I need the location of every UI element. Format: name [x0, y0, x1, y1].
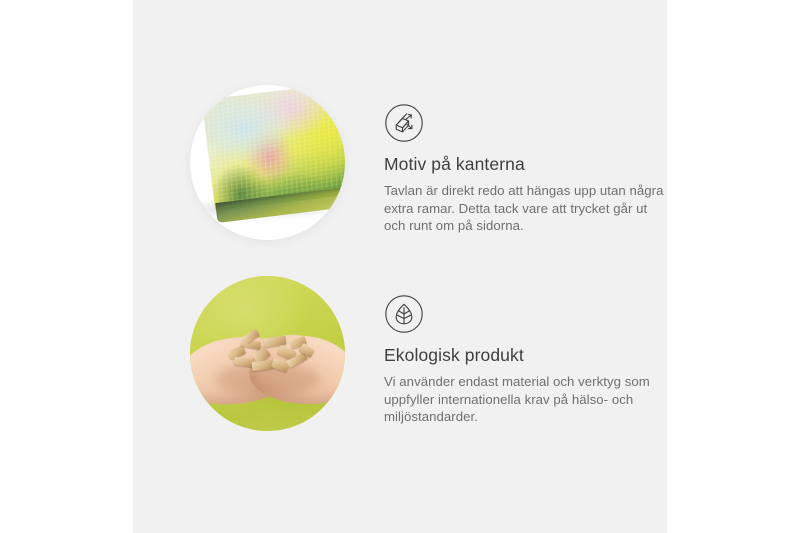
- canvas-wrapped-edge-icon: [384, 103, 424, 143]
- feature-text-block: Motiv på kanterna Tavlan är direkt redo …: [384, 85, 664, 235]
- feature-description: Vi använder endast material och verktyg …: [384, 373, 664, 426]
- feature-motiv-pa-kanterna: Motiv på kanterna Tavlan är direkt redo …: [190, 85, 664, 240]
- wood-chips-in-hands-photo: [190, 276, 345, 431]
- feature-ekologisk-produkt: Ekologisk produkt Vi använder endast mat…: [190, 276, 664, 431]
- feature-description: Tavlan är direkt redo att hängas upp uta…: [384, 182, 664, 235]
- feature-title: Motiv på kanterna: [384, 153, 664, 175]
- leaf-icon: [384, 294, 424, 334]
- feature-text-block: Ekologisk produkt Vi använder endast mat…: [384, 276, 664, 426]
- canvas-print-photo: [190, 85, 345, 240]
- wood-chips-cluster: [224, 328, 320, 376]
- page-root: Motiv på kanterna Tavlan är direkt redo …: [0, 0, 800, 533]
- canvas-print-artwork: [202, 85, 345, 229]
- content-panel: Motiv på kanterna Tavlan är direkt redo …: [133, 0, 667, 533]
- feature-title: Ekologisk produkt: [384, 344, 664, 366]
